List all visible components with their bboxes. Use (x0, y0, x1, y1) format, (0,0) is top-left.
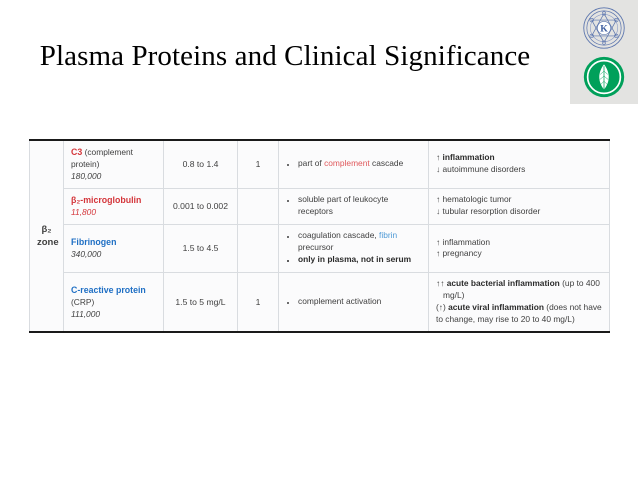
molecular-weight: 180,000 (71, 171, 101, 181)
table-row: β₂-microglobulin 11,800 0.001 to 0.002 s… (30, 188, 610, 224)
page-title: Plasma Proteins and Clinical Significanc… (0, 40, 570, 73)
protein-name-cell: C3 (complement protein) 180,000 (64, 140, 164, 188)
clinical-line: ↑ inflammation (436, 237, 602, 249)
concentration-cell: 1.5 to 5 mg/L (164, 273, 238, 332)
function-pre: only in plasma, not in serum (298, 254, 411, 264)
clinical-line: ↓ tubular resorption disorder (436, 206, 602, 218)
clinical-cell: ↑ hematologic tumor ↓ tubular resorption… (429, 188, 610, 224)
arrow-icon: ↑ (436, 237, 440, 247)
zone-label-line1: β₂ (37, 223, 56, 236)
clinical-bold: acute viral inflammation (448, 302, 544, 312)
clinical-bold: acute bacterial inflammation (447, 278, 560, 288)
number-cell: 1 (238, 140, 279, 188)
function-highlight: complement (324, 158, 370, 168)
concentration-cell: 1.5 to 4.5 (164, 224, 238, 273)
protein-name-cell: β₂-microglobulin 11,800 (64, 188, 164, 224)
list-item: part of complement cascade (297, 158, 421, 170)
function-pre: soluble part of leukocyte receptors (298, 194, 388, 216)
protein-name: C3 (71, 147, 82, 157)
list-item: coagulation cascade, fibrin precursor (297, 230, 421, 254)
protein-name: Fibrinogen (71, 237, 116, 247)
function-cell: coagulation cascade, fibrin precursor on… (279, 224, 429, 273)
clinical-line: ↑ hematologic tumor (436, 194, 602, 206)
arrow-icon: ↑ (436, 194, 440, 204)
list-item: complement activation (297, 296, 421, 308)
concentration-cell: 0.001 to 0.002 (164, 188, 238, 224)
function-highlight: fibrin (379, 230, 397, 240)
clinical-rest: inflammation (443, 237, 490, 247)
arrow-icon: (↑) (436, 302, 446, 312)
number-cell: 1 (238, 273, 279, 332)
logo-panel: K (570, 0, 638, 104)
table-row: C-reactive protein (CRP) 111,000 1.5 to … (30, 273, 610, 332)
svg-text:K: K (600, 24, 608, 35)
function-pre: part of (298, 158, 324, 168)
list-item: soluble part of leukocyte receptors (297, 194, 421, 218)
clinical-cell: ↑↑ acute bacterial inflammation (up to 4… (429, 273, 610, 332)
molecular-weight: 111,000 (71, 309, 100, 319)
number-cell (238, 188, 279, 224)
zone-label-line2: zone (37, 236, 56, 249)
clinical-bold: inflammation (443, 152, 495, 162)
protein-name: β₂-microglobulin (71, 195, 141, 205)
protein-name-cell: C-reactive protein (CRP) 111,000 (64, 273, 164, 332)
function-cell: part of complement cascade (279, 140, 429, 188)
arrow-icon: ↓ (436, 164, 440, 174)
clinical-line: ↑ inflammation (436, 152, 602, 164)
arrow-icon: ↑↑ (436, 278, 444, 288)
university-crest-logo: K (582, 6, 626, 50)
protein-name-cell: Fibrinogen 340,000 (64, 224, 164, 273)
function-cell: soluble part of leukocyte receptors (279, 188, 429, 224)
function-list: complement activation (286, 296, 421, 308)
zone-label-cell: β₂ zone (30, 140, 64, 332)
concentration-cell: 0.8 to 1.4 (164, 140, 238, 188)
function-cell: complement activation (279, 273, 429, 332)
function-post: cascade (370, 158, 404, 168)
function-pre: coagulation cascade, (298, 230, 379, 240)
function-list: part of complement cascade (286, 158, 421, 170)
function-list: soluble part of leukocyte receptors (286, 194, 421, 218)
clinical-cell: ↑ inflammation ↑ pregnancy (429, 224, 610, 273)
green-leaf-logo (583, 56, 625, 98)
plasma-proteins-table: β₂ zone C3 (complement protein) 180,000 … (29, 139, 610, 333)
function-pre: complement activation (298, 296, 381, 306)
table-row: β₂ zone C3 (complement protein) 180,000 … (30, 140, 610, 188)
clinical-cell: ↑ inflammation ↓ autoimmune disorders (429, 140, 610, 188)
arrow-icon: ↑ (436, 248, 440, 258)
molecular-weight: 11,800 (71, 207, 96, 217)
clinical-rest: autoimmune disorders (443, 164, 526, 174)
clinical-line: ↓ autoimmune disorders (436, 164, 602, 176)
list-item: only in plasma, not in serum (297, 254, 421, 266)
arrow-icon: ↑ (436, 152, 440, 162)
table-row: Fibrinogen 340,000 1.5 to 4.5 coagulatio… (30, 224, 610, 273)
clinical-rest: hematologic tumor (443, 194, 512, 204)
molecular-weight: 340,000 (71, 249, 101, 259)
number-cell (238, 224, 279, 273)
function-post: precursor (298, 242, 333, 252)
protein-qualifier: (CRP) (71, 297, 94, 307)
clinical-line: ↑ pregnancy (436, 248, 602, 260)
clinical-rest: pregnancy (443, 248, 482, 258)
function-list: coagulation cascade, fibrin precursor on… (286, 230, 421, 267)
clinical-line: ↑↑ acute bacterial inflammation (up to 4… (436, 278, 602, 302)
clinical-line: (↑) acute viral inflammation (does not h… (436, 302, 602, 326)
plasma-proteins-table-wrapper: β₂ zone C3 (complement protein) 180,000 … (29, 139, 609, 333)
protein-name: C-reactive protein (71, 285, 146, 295)
arrow-icon: ↓ (436, 206, 440, 216)
clinical-rest: tubular resorption disorder (443, 206, 541, 216)
